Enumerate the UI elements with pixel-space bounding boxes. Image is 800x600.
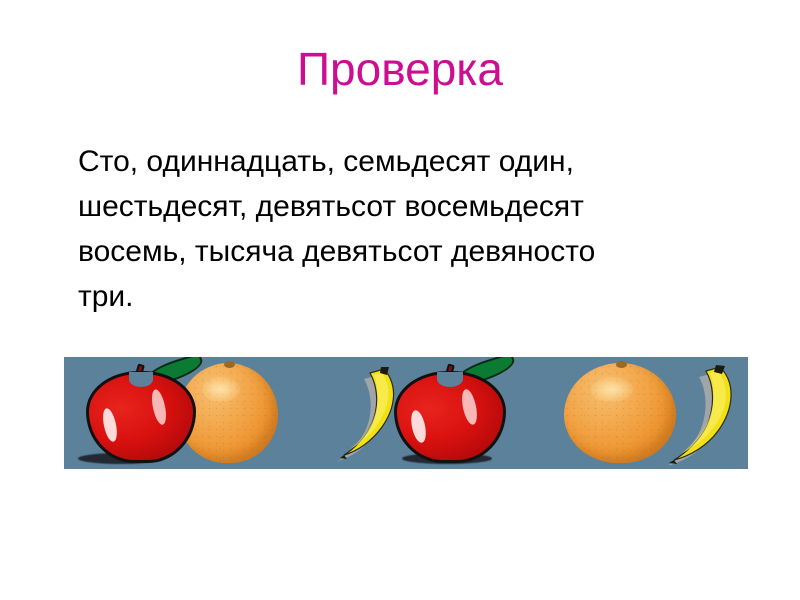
fruit-group-banana-apple: [332, 357, 547, 469]
fruit-row: [64, 357, 748, 469]
apple-icon: [86, 371, 196, 463]
body-line-3: восемь, тысяча девятьсот девяносто: [78, 229, 718, 274]
body-line-2: шестьдесят, девятьсот восемьдесят: [78, 184, 718, 229]
banana-icon: [662, 363, 748, 465]
body-line-4: три.: [78, 274, 718, 319]
apple-icon: [394, 371, 506, 463]
fruit-group-orange-banana: [564, 357, 748, 469]
body-line-1: Сто, одиннадцать, семьдесят один,: [78, 139, 718, 184]
page-title: Проверка: [0, 44, 800, 95]
fruit-picture-band: [64, 357, 748, 469]
orange-icon: [564, 363, 676, 463]
slide: Проверка Сто, одиннадцать, семьдесят оди…: [0, 0, 800, 600]
body-text: Сто, одиннадцать, семьдесят один, шестьд…: [78, 139, 718, 319]
fruit-group-apple-orange: [70, 357, 285, 469]
